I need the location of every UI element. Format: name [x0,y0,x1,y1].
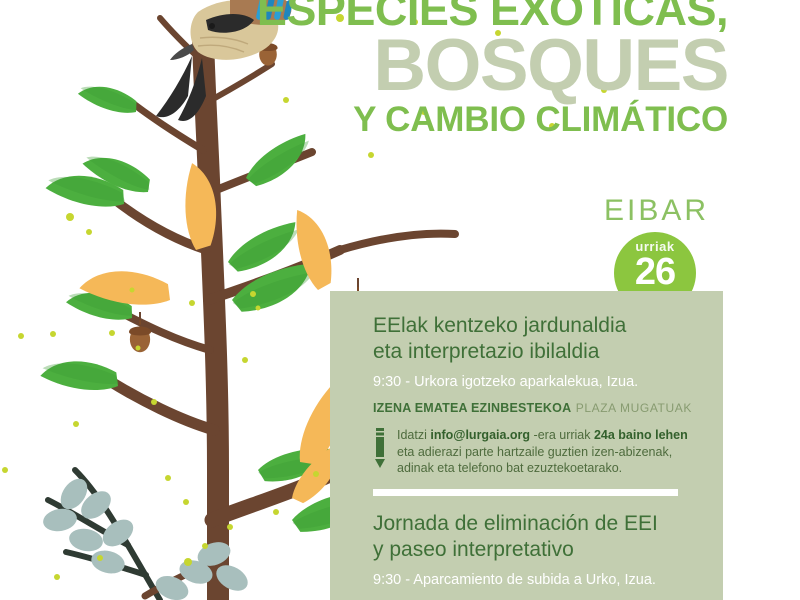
limited-places-text: PLAZA MUGATUAK [576,401,692,415]
poster-canvas: ESPECIES EXÓTICAS, BOSQUES Y CAMBIO CLIM… [0,0,800,600]
note-line-2: eta adierazi parte hartzaile guztien ize… [397,444,687,461]
note-deadline-mid: -era urriak [530,428,594,442]
deadline-date: 24a baino lehen [594,428,688,442]
registration-required-text: IZENA EMATEA EZINBESTEKOA [373,401,571,415]
basque-time-location: 9:30 - Urkora igotzeko aparkalekua, Izua… [373,374,687,390]
date-day-number: 26 [614,253,696,291]
section-divider [373,489,678,496]
contact-email: info@lurgaia.org [430,428,530,442]
spanish-title-line-2: y paseo interpretativo [373,537,687,563]
basque-title-line-2: eta interpretazio ibilaldia [373,339,687,365]
basque-title-line-1: EElak kentzeko jardunaldia [373,313,687,339]
city-name: EIBAR [604,194,709,228]
note-write-prefix: Idatzi [397,428,430,442]
spanish-section: Jornada de eliminación de EEI y paseo in… [373,511,687,588]
date-label-basque: urriak [614,232,696,253]
spanish-time-location: 9:30 - Aparcamiento de subida a Urko, Iz… [373,572,687,588]
pencil-icon [373,428,387,477]
event-info-panel: EElak kentzeko jardunaldia eta interpret… [330,291,723,600]
note-line-1: Idatzi info@lurgaia.org -era urriak 24a … [397,427,687,444]
basque-registration-line: IZENA EMATEA EZINBESTEKOA PLAZA MUGATUAK [373,399,687,417]
note-line-3: adinak eta telefono bat ezuztekoetarako. [397,460,687,477]
basque-note-block: Idatzi info@lurgaia.org -era urriak 24a … [373,427,687,477]
spanish-title-line-1: Jornada de eliminación de EEI [373,511,687,537]
